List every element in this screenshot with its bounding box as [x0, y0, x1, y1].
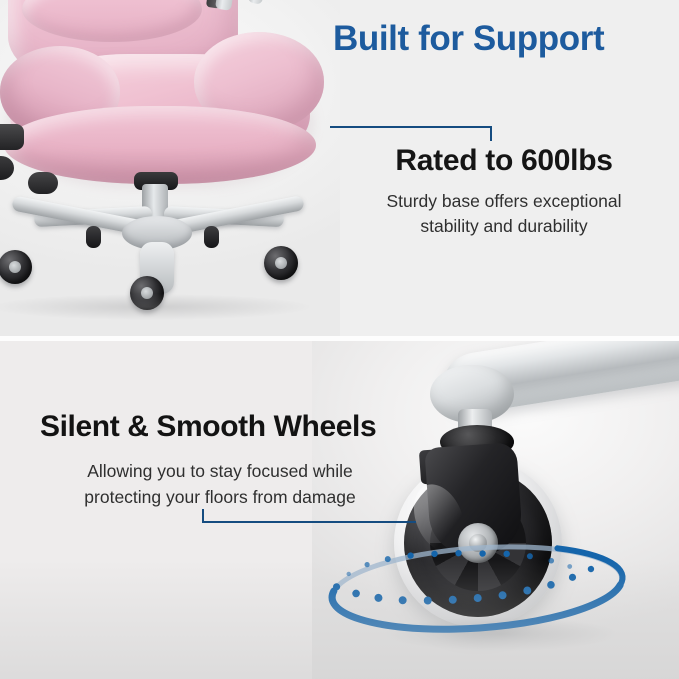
body-top-line-2: stability and durability: [333, 214, 675, 239]
callout-connector-bottom: [202, 508, 416, 523]
caster-front-right: [264, 246, 298, 280]
marketing-image: Built for Support Rated to 600lbs Sturdy…: [0, 0, 679, 679]
headline-built-for-support: Built for Support: [333, 17, 675, 61]
chair-floor-shadow: [0, 294, 310, 320]
body-text-bottom: Allowing you to stay focused while prote…: [48, 458, 392, 510]
wheel-axle-screw: [469, 534, 487, 552]
headline-silent-smooth-wheels: Silent & Smooth Wheels: [40, 407, 460, 447]
panel-divider: [0, 336, 679, 341]
connector-horizontal-segment: [330, 126, 492, 128]
tension-knob: [28, 172, 58, 194]
panel-silent-smooth-wheels: Silent & Smooth Wheels Allowing you to s…: [0, 341, 679, 679]
tilt-knob: [0, 124, 24, 150]
panel-built-for-support: Built for Support Rated to 600lbs Sturdy…: [0, 0, 679, 339]
caster-rear-left: [86, 226, 101, 248]
headline-rated-to-600lbs: Rated to 600lbs: [333, 142, 675, 180]
body-text-top: Sturdy base offers exceptional stability…: [333, 189, 675, 239]
body-bottom-line-1: Allowing you to stay focused while: [48, 458, 392, 484]
connector-horizontal-segment: [202, 521, 416, 523]
body-top-line-1: Sturdy base offers exceptional: [333, 189, 675, 214]
caster-floor-shadow: [386, 617, 616, 651]
connector-vertical-tick: [490, 126, 492, 141]
body-bottom-line-2: protecting your floors from damage: [48, 484, 392, 510]
caster-rear-right: [204, 226, 219, 248]
callout-connector-top: [330, 126, 492, 142]
chair-photo: [0, 0, 340, 339]
